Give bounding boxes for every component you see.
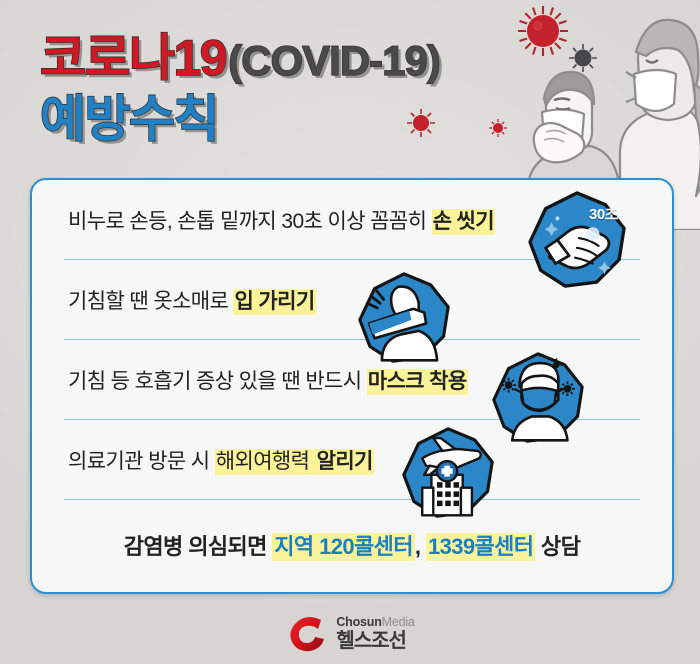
- call-center-prefix: 감염병 의심되면: [124, 534, 273, 559]
- call-center-text: 감염병 의심되면 지역 120콜센터, 1339콜센터 상담: [124, 529, 580, 561]
- rule-text-1: 비누로 손등, 손톱 밑까지 30초 이상 꼼꼼히 손 씻기: [68, 205, 495, 235]
- title-korona: 코로나19: [40, 30, 226, 86]
- hand-washing-icon: 30초: [528, 191, 626, 289]
- title-line-1: 코로나19(COVID-19): [40, 33, 440, 83]
- covid-prevention-poster: 코로나19(COVID-19) 예방수칙 비누로 손등, 손톱 밑까지 30초 …: [0, 0, 700, 664]
- rule-text-2: 기침할 땐 옷소매로 입 가리기: [68, 285, 316, 315]
- hand-washing-duration-label: 30초: [542, 203, 618, 224]
- call-center-suffix: 상담: [535, 534, 580, 559]
- rule-text-3: 기침 등 호흡기 증상 있을 땐 반드시 마스크 착용: [68, 365, 468, 395]
- call-center-120: 지역 120콜센터: [272, 533, 415, 561]
- rule-1-keyword: 손 씻기: [432, 209, 495, 235]
- rule-text-4: 의료기관 방문 시 해외여행력 알리기: [68, 445, 374, 475]
- rule-1-prefix: 비누로 손등, 손톱 밑까지 30초 이상 꼼꼼히: [68, 210, 432, 233]
- call-center-1339: 1339콜센터: [426, 533, 535, 561]
- logo-chosun: Chosun: [336, 615, 381, 629]
- title-covid: (COVID-19): [228, 37, 440, 84]
- logo-media: Media: [382, 615, 415, 629]
- title-line-2: 예방수칙: [40, 94, 218, 144]
- rule-2-prefix: 기침할 땐 옷소매로: [68, 290, 233, 313]
- airplane-hospital-icon: [402, 427, 494, 519]
- logo-brand-en: ChosunMedia: [336, 616, 414, 629]
- cough-into-sleeve-icon: [358, 272, 450, 364]
- title-prevention-rules: 예방수칙: [40, 91, 218, 147]
- rule-4-subject: 해외여행력: [215, 449, 311, 475]
- rule-2-keyword: 입 가리기: [233, 289, 315, 315]
- chosun-logo-mark-icon: [285, 615, 327, 653]
- poster-header: 코로나19(COVID-19) 예방수칙: [0, 0, 700, 180]
- rule-divider-4: [64, 499, 640, 500]
- chosun-media-logo: ChosunMedia 헬스조선: [0, 606, 700, 662]
- rule-3-keyword: 마스크 착용: [367, 369, 468, 395]
- rule-4-prefix: 의료기관 방문 시: [68, 450, 215, 473]
- logo-brand-ko: 헬스조선: [336, 631, 414, 652]
- face-mask-icon: [492, 352, 584, 444]
- call-center-separator: ,: [415, 534, 426, 559]
- rule-4-keyword: 알리기: [310, 449, 373, 475]
- call-center-banner: 감염병 의심되면 지역 120콜센터, 1339콜센터 상담: [32, 502, 672, 588]
- rule-3-prefix: 기침 등 호흡기 증상 있을 땐 반드시: [68, 370, 367, 393]
- logo-text-block: ChosunMedia 헬스조선: [336, 616, 414, 651]
